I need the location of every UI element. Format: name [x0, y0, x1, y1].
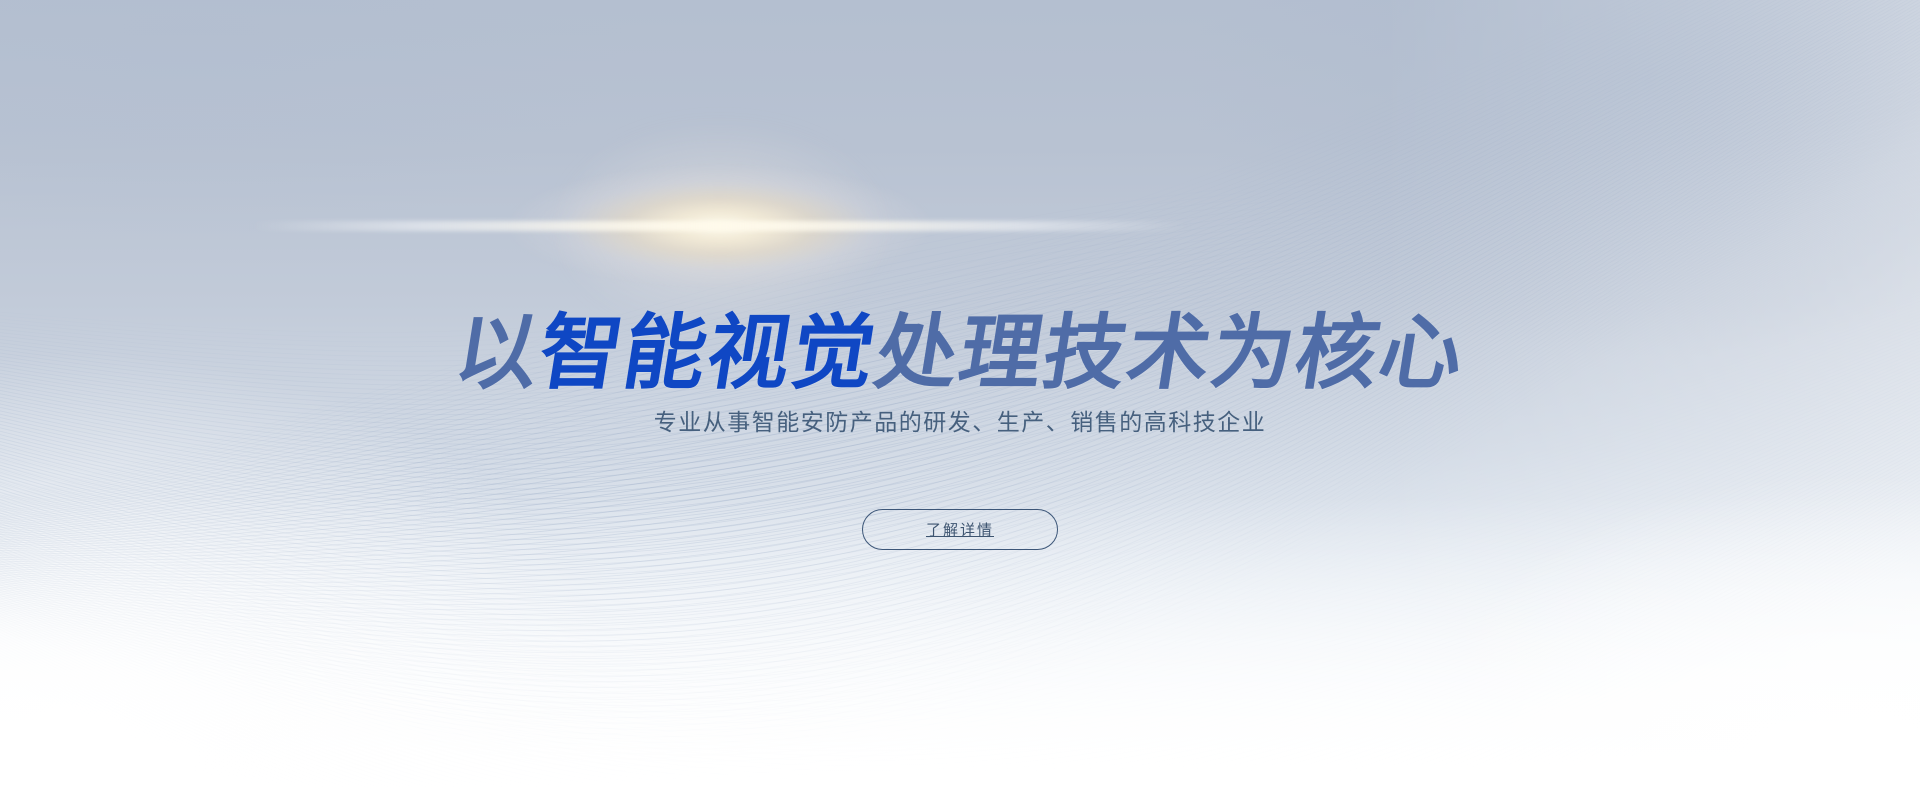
hero-subtitle: 专业从事智能安防产品的研发、生产、销售的高科技企业 — [0, 403, 1920, 437]
hero-headline: 以智能视觉处理技术为核心 — [0, 313, 1920, 395]
hero-content: 以智能视觉处理技术为核心 专业从事智能安防产品的研发、生产、销售的高科技企业 了… — [0, 0, 1920, 800]
hero-banner: 以智能视觉处理技术为核心 专业从事智能安防产品的研发、生产、销售的高科技企业 了… — [0, 0, 1920, 800]
hero-cta-container: 了解详情 — [0, 509, 1920, 550]
headline-segment-3: 处理技术为核心 — [870, 313, 1471, 395]
headline-segment-1: 以 — [449, 313, 546, 395]
headline-segment-2: 智能视觉 — [533, 313, 882, 395]
learn-more-button[interactable]: 了解详情 — [862, 509, 1058, 550]
